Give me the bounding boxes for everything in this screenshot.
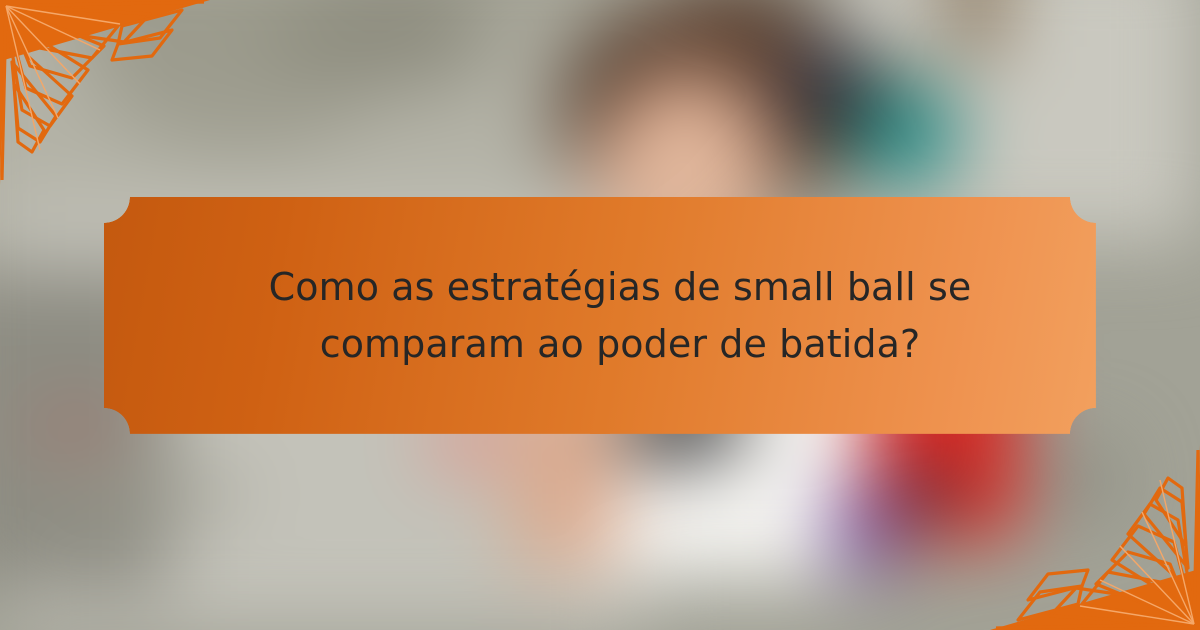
headline-text: Como as estratégias de small ball se com…: [104, 197, 1096, 434]
poster-canvas: Como as estratégias de small ball se com…: [0, 0, 1200, 630]
headline-line-1: Como as estratégias de small ball se: [269, 265, 972, 310]
headline-banner: Como as estratégias de small ball se com…: [104, 197, 1096, 434]
headline-line-2: comparam ao poder de batida?: [320, 322, 921, 367]
